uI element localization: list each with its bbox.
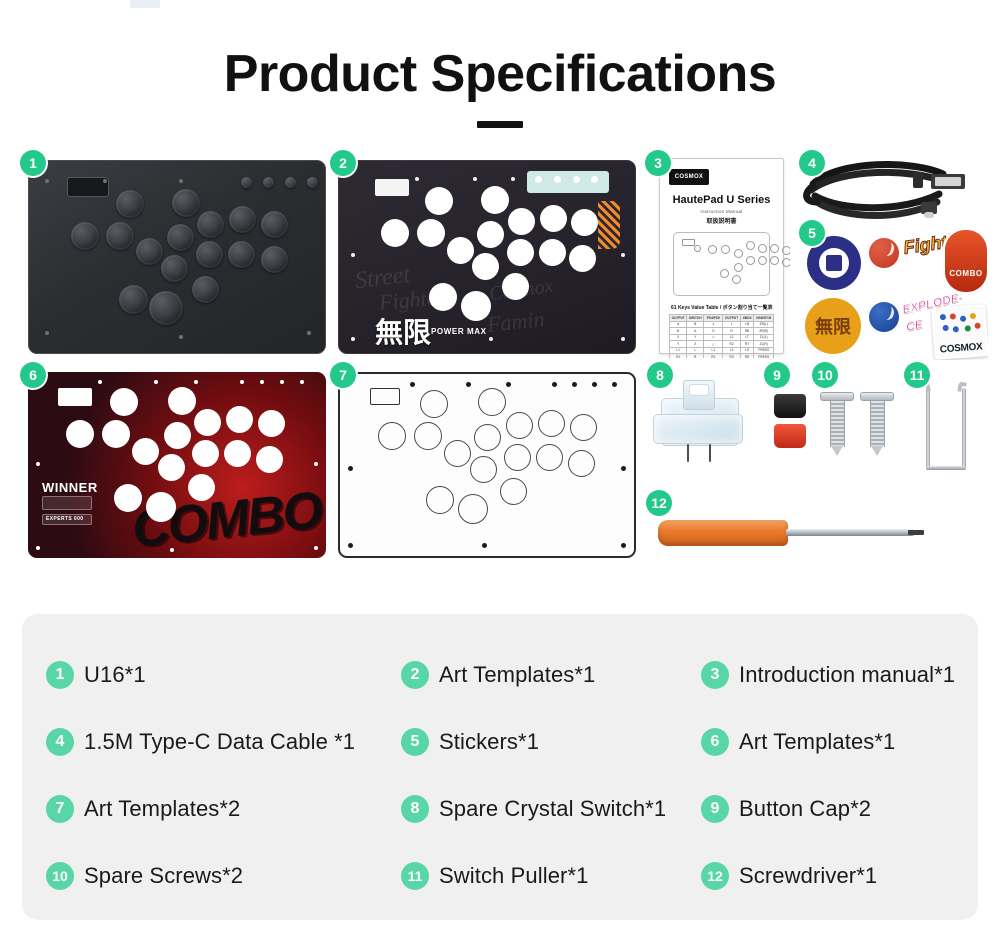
manual-table-cell: R3 (723, 354, 740, 359)
photo-badge-5: 5 (799, 220, 825, 246)
script-text-4: Famin (486, 306, 546, 338)
photo-badge-3: 3 (645, 150, 671, 176)
manual-table-cell: RS (740, 354, 754, 359)
gallery-item-screwdriver[interactable]: 12 (640, 482, 940, 564)
sticker-combo-pill: COMBO (945, 230, 987, 292)
gallery-item-art-template-blank[interactable]: 7 (328, 362, 640, 562)
legend-badge-10: 10 (46, 862, 74, 890)
legend-label-6: Art Templates*1 (739, 729, 895, 755)
switch-pin-left (687, 444, 689, 462)
button-cap-red (774, 424, 806, 448)
manual-table-row: R1RR1R3RSPRESS (670, 354, 774, 359)
power-max-wordmark: POWER MAX (431, 327, 487, 336)
manual-title: HautePad U Series (669, 194, 774, 206)
manual-subtitle: Instruction Manual (669, 209, 774, 214)
puller-leg-left (926, 388, 930, 470)
art-template-dark-body: Street Fighter Cosmox Famin (338, 160, 636, 354)
legend-label-7: Art Templates*2 (84, 796, 240, 822)
legend-label-1: U16*1 (84, 662, 146, 688)
legend-item-9: 9Button Cap*2 (701, 776, 955, 842)
cosmox-logo: COSMOX (669, 169, 709, 185)
legend-item-10: 10Spare Screws*2 (46, 843, 401, 909)
gallery-item-switch-puller[interactable]: 11 (900, 362, 990, 492)
winner-tag-code: EXPERTS 000 (46, 516, 83, 522)
legend-label-2: Art Templates*1 (439, 662, 595, 688)
legend-item-3: 3Introduction manual*1 (701, 642, 955, 708)
manual-table-cell: R1 (704, 354, 723, 359)
puller-bottom-bridge (926, 466, 966, 470)
legend-label-12: Screwdriver*1 (739, 863, 877, 889)
gallery-item-sticker-sheet[interactable]: 無限 Fighting COMBO EXPLODE-CE (793, 214, 988, 360)
legend-badge-12: 12 (701, 862, 729, 890)
script-text-1: Street (354, 262, 412, 296)
photo-badge-6: 6 (20, 362, 46, 388)
switch-pin-right (709, 444, 711, 462)
hazard-hatch-accent (598, 201, 620, 249)
top-edge-artifact (130, 0, 160, 8)
legend-badge-8: 8 (401, 795, 429, 823)
photo-badge-2: 2 (330, 150, 356, 176)
legend-item-4: 41.5M Type-C Data Cable *1 (46, 709, 401, 775)
legend-item-11: 11Switch Puller*1 (401, 843, 701, 909)
manual-key-table: OUTPUTSWITCH PS4/PS5OUTPUT XBOXNSWITCH A… (669, 314, 774, 358)
photo-badge-4: 4 (799, 150, 825, 176)
gallery-item-art-template-combo[interactable]: COMBO WINNER EXPERTS 000 (18, 362, 330, 562)
screwdriver-shaft (786, 529, 914, 536)
screwdriver-handle (658, 520, 788, 546)
screw-tip-1 (831, 446, 843, 456)
legend-label-4: 1.5M Type-C Data Cable *1 (84, 729, 355, 755)
winner-wordmark: WINNER (42, 480, 98, 495)
sticker-button-blue (869, 302, 899, 332)
legend-label-10: Spare Screws*2 (84, 863, 243, 889)
photo-badge-1: 1 (20, 150, 46, 176)
manual-subtitle-cjk: 取扱説明書 (669, 216, 774, 225)
legend-badge-7: 7 (46, 795, 74, 823)
photo-badge-8: 8 (647, 362, 673, 388)
page-title: Product Specifications (0, 0, 1000, 103)
art-template-blank-body (338, 372, 636, 558)
legend-item-12: 12Screwdriver*1 (701, 843, 955, 909)
legend-label-5: Stickers*1 (439, 729, 539, 755)
sticker-combo-text: COMBO (949, 269, 982, 278)
photo-badge-7: 7 (330, 362, 356, 388)
legend-label-3: Introduction manual*1 (739, 662, 955, 688)
sticker-cosmox-pad: COSMOX (931, 304, 988, 360)
manual-page: COSMOX HautePad U Series Instruction Man… (659, 158, 784, 354)
package-contents-list: 1U16*12Art Templates*13Introduction manu… (46, 642, 954, 910)
legend-badge-1: 1 (46, 661, 74, 689)
sticker-button-red (869, 238, 899, 268)
screw-tip-2 (871, 446, 883, 456)
sticker-cosmox-text: COSMOX (936, 341, 987, 355)
legend-badge-6: 6 (701, 728, 729, 756)
puller-leg-right (962, 388, 966, 470)
product-specifications-page: Product Specifications (0, 0, 1000, 943)
screw-head-1 (820, 392, 854, 401)
usb-port-cutout (370, 388, 400, 405)
legend-badge-11: 11 (401, 862, 429, 890)
sticker-kanji-text: 無限 (815, 313, 851, 339)
manual-layout-diagram (673, 232, 770, 296)
gallery-item-spare-screws[interactable]: 10 (812, 362, 902, 477)
legend-badge-5: 5 (401, 728, 429, 756)
controller-body (28, 160, 326, 354)
screwdriver-tip (908, 530, 924, 535)
aux-button-strip (527, 171, 609, 193)
usb-port-cutout (58, 388, 92, 406)
screw-head-2 (860, 392, 894, 401)
gallery-item-button-caps[interactable]: 9 (758, 362, 820, 477)
legend-label-9: Button Cap*2 (739, 796, 871, 822)
package-contents-panel: 1U16*12Art Templates*13Introduction manu… (22, 614, 978, 920)
usb-port-cutout (375, 179, 409, 196)
legend-item-6: 6Art Templates*1 (701, 709, 955, 775)
legend-item-5: 5Stickers*1 (401, 709, 701, 775)
photo-badge-10: 10 (812, 362, 838, 388)
legend-item-2: 2Art Templates*1 (401, 642, 701, 708)
sticker-kanji-round: 無限 (805, 298, 861, 354)
screw-shaft-1 (830, 401, 845, 447)
gallery-item-crystal-switch[interactable]: 8 (645, 362, 755, 477)
button-cap-black (774, 394, 806, 418)
kanji-wordmark: 無限 (375, 311, 431, 351)
manual-table-cell: PRESS (754, 354, 774, 359)
switch-base (653, 414, 743, 444)
legend-badge-4: 4 (46, 728, 74, 756)
product-gallery: 1 Street Fighter Cosmox Famin (0, 142, 1000, 572)
manual-table-cell: R (687, 354, 704, 359)
legend-item-7: 7Art Templates*2 (46, 776, 401, 842)
legend-badge-9: 9 (701, 795, 729, 823)
legend-label-11: Switch Puller*1 (439, 863, 588, 889)
legend-label-8: Spare Crystal Switch*1 (439, 796, 666, 822)
manual-table-cell: R1 (670, 354, 687, 359)
legend-item-8: 8Spare Crystal Switch*1 (401, 776, 701, 842)
title-underline-rule (477, 121, 523, 128)
screw-shaft-2 (870, 401, 885, 447)
photo-badge-12: 12 (646, 490, 672, 516)
manual-table-title: 61 Keys Value Table / ボタン割り当て一覧表 (671, 304, 774, 311)
gallery-item-u16-controller[interactable]: 1 (18, 150, 330, 358)
legend-badge-3: 3 (701, 661, 729, 689)
photo-badge-9: 9 (764, 362, 790, 388)
art-template-combo-body: COMBO WINNER EXPERTS 000 (28, 372, 326, 558)
gallery-item-introduction-manual[interactable]: COSMOX HautePad U Series Instruction Man… (645, 150, 790, 358)
legend-badge-2: 2 (401, 661, 429, 689)
gallery-item-art-template-dark[interactable]: Street Fighter Cosmox Famin (328, 150, 640, 358)
photo-badge-11: 11 (904, 362, 930, 388)
legend-item-1: 1U16*1 (46, 642, 401, 708)
